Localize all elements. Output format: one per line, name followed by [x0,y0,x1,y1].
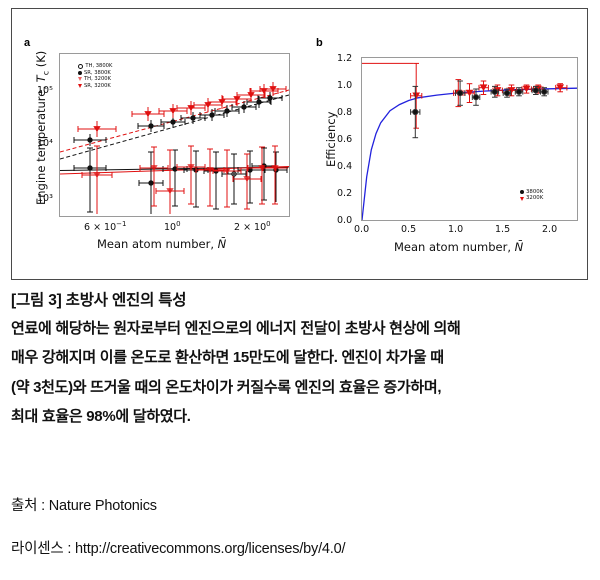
caption-line-4: 최대 효율은 98%에 달하였다. [11,407,589,427]
legend-label: TH, 3800K [85,63,112,70]
panel-b: b Efficiency 1.2 1.0 0.8 0.6 0.4 0.2 0.0 [304,9,589,281]
filled-circle-icon [78,71,82,75]
panel-b-xtick-1-5: 1.5 [495,224,510,235]
filled-circle-icon [520,190,524,194]
panel-a-ylabel: Engine temperature, Tc (K) [34,51,50,205]
panel-a-xtick-6e-1: 6 × 10−1 [84,220,126,233]
panel-b-xtick-2-0: 2.0 [542,224,557,235]
legend-item-sr-3200k: SR, 3200K [75,83,112,90]
open-triangle-down-icon [78,77,82,81]
panel-b-ytick-1-0: 1.0 [337,80,352,91]
source-block: 출처 : Nature Photonics 라이센스 : http://crea… [11,494,589,580]
panel-b-ytick-0-8: 0.8 [337,107,352,118]
panel-a-letter: a [24,37,30,49]
caption-line-2: 매우 강해지며 이를 온도로 환산하면 15만도에 달한다. 엔진이 차가울 때 [11,348,589,368]
panel-b-svg [362,58,577,220]
panel-b-plot-area [361,57,578,221]
panel-a-xlabel: Mean atom number, N̄ [97,237,226,251]
panel-a-legend: TH, 3800K SR, 3800K TH, 3200K SR, 3200K [75,63,112,89]
filled-triangle-down-icon [520,197,524,201]
panel-b-ytick-1-2: 1.2 [337,53,352,64]
legend-label: SR, 3200K [84,83,111,90]
panel-b-xtick-0-0: 0.0 [354,224,369,235]
panel-b-xlabel: Mean atom number, N̄ [394,240,523,254]
legend-item-sr-3800k: SR, 3800K [75,70,112,77]
panel-a-xtick-2e0: 2 × 100 [234,220,271,233]
license-line: 라이센스 : http://creativecommons.org/licens… [11,537,589,558]
panel-a-ytick-1e4: 10⁴ [37,138,53,149]
panel-b-ytick-0-0: 0.0 [337,215,352,226]
panel-a-xtick-1e0: 100 [164,220,181,233]
panel-b-xtick-1-0: 1.0 [448,224,463,235]
panel-b-legend: 3800K 3200K [517,189,543,202]
source-line: 출처 : Nature Photonics [11,494,589,515]
figure-page: a Engine temperature, Tc (K) 10⁵ 10⁴ 10³ [0,0,600,570]
caption-block: [그림 3] 초방사 엔진의 특성 연료에 해당하는 원자로부터 엔진으로의 에… [11,288,589,436]
panel-b-xtick-0-5: 0.5 [401,224,416,235]
legend-label: SR, 3800K [84,70,111,77]
legend-item-th-3800k: TH, 3800K [75,63,112,70]
caption-line-1: 연료에 해당하는 원자로부터 엔진으로의 에너지 전달이 초방사 현상에 의해 [11,319,589,339]
panel-a: a Engine temperature, Tc (K) 10⁵ 10⁴ 10³ [12,9,304,281]
panel-b-ytick-0-6: 0.6 [337,134,352,145]
caption-line-3: (약 3천도)와 뜨거울 때의 온도차이가 커질수록 엔진의 효율은 증가하며, [11,378,589,398]
panel-b-ylabel: Efficiency [324,112,338,167]
panel-b-letter: b [316,37,323,49]
open-circle-icon [78,64,83,69]
panel-b-ytick-0-4: 0.4 [337,161,352,172]
panel-b-ytick-0-2: 0.2 [337,188,352,199]
legend-item-th-3200k: TH, 3200K [75,76,112,83]
legend-label: 3200K [526,195,543,202]
legend-label: TH, 3200K [84,76,111,83]
legend-item-3200k: 3200K [517,196,543,203]
caption-title: [그림 3] 초방사 엔진의 특성 [11,288,589,310]
panel-a-ytick-1e5: 10⁵ [37,85,53,96]
figure-container: a Engine temperature, Tc (K) 10⁵ 10⁴ 10³ [11,8,588,280]
filled-triangle-down-icon [78,84,82,88]
panel-a-ytick-1e3: 10³ [37,193,53,204]
